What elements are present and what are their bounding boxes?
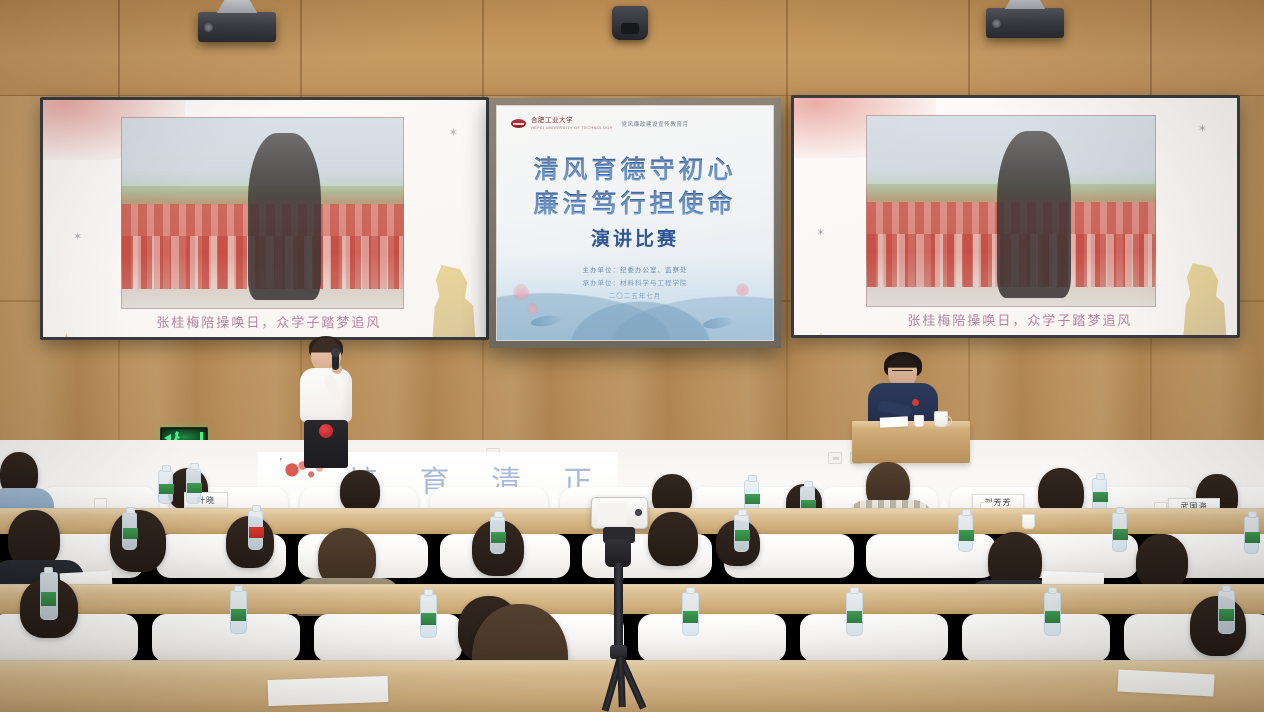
slide-right: ✶ ✶ ★ ★ ★ ★ 张桂梅陪操唤日，众学子踏梦追风 [794,98,1237,335]
paper-cup-icon [1022,514,1035,529]
camera-lens-icon [635,509,642,516]
bottle-label [683,611,698,624]
bottle-cap [252,505,261,512]
score-sheet [880,416,908,427]
slide-caption: 张桂梅陪操唤日，众学子踏梦追风 [821,310,1220,329]
judge-station [846,355,976,465]
bird-icon: ✶ [73,230,82,243]
bottle-cap [190,463,199,470]
water-bottle [248,510,263,550]
display-screen-right: ✶ ✶ ★ ★ ★ ★ 张桂梅陪操唤日，众学子踏梦追风 [791,95,1240,338]
bottle-label [491,532,506,543]
tripod-center-column [614,563,623,649]
star-icon: ★ [812,328,830,338]
bottle-cap [1096,473,1105,480]
slide-caption: 张桂梅陪操唤日，众学子踏梦追风 [70,312,469,331]
bottle-label [1219,609,1234,622]
bottle-cap [1248,511,1257,518]
water-bottle [734,514,749,552]
lecture-hall-scene: ✶ ✶ ★ ★ ★ ★ 张桂梅陪操唤日，众学子踏梦追风 合肥 [0,0,1264,712]
wall-seam [786,0,788,470]
smartphone-camera[interactable] [591,497,648,529]
bottle-label [1113,529,1128,540]
star-icon: ★ [866,336,872,338]
display-screen-center: 合肥工业大学 HEFEI UNIVERSITY OF TECHNOLOGY 党风… [489,98,781,348]
display-screen-left: ✶ ✶ ★ ★ ★ ★ 张桂梅陪操唤日，众学子踏梦追风 [40,97,489,340]
bottle-cap [44,567,53,574]
chair [800,614,948,662]
ceiling-camera-icon [612,6,648,40]
audience-head [1136,534,1188,590]
bird-icon: ✶ [1198,122,1207,135]
mountain-decoration [497,254,773,340]
lotus-icon [527,303,538,314]
slide-subtitle: 演讲比赛 [497,224,773,251]
star-icon: ★ [833,337,845,338]
bottle-cap [1222,585,1231,592]
university-logo-icon [511,119,526,128]
bottle-cap [850,587,859,594]
bottle-cap [804,481,813,488]
water-bottle [490,516,505,554]
bottle-label [159,484,174,494]
campaign-banner-text: 党风廉政建设宣传教育月 [622,120,689,128]
bottle-cap [1048,587,1057,594]
water-bottle [682,592,699,636]
photo-figure [248,133,321,300]
lotus-icon [513,284,529,300]
bottle-label [41,592,56,606]
bottle-cap [424,589,433,596]
bottle-label [421,613,436,626]
bottle-label [187,483,202,493]
water-bottle [1092,478,1107,512]
bird-icon: ✶ [816,226,825,239]
bottle-label [123,528,138,539]
slide-header: 合肥工业大学 HEFEI UNIVERSITY OF TECHNOLOGY 党风… [511,118,689,130]
projector-icon [198,12,276,42]
bottle-label [1045,611,1060,624]
bottle-cap [126,507,135,514]
slide-left: ✶ ✶ ★ ★ ★ ★ 张桂梅陪操唤日，众学子踏梦追风 [43,100,486,337]
projector-lens-icon [204,23,213,32]
water-bottle [158,470,173,504]
paper-sheet [268,676,389,706]
bottle-label [847,611,862,624]
wall-socket-icon [828,452,842,464]
water-bottle [186,468,201,504]
water-bottle [420,594,437,638]
slide-center: 合肥工业大学 HEFEI UNIVERSITY OF TECHNOLOGY 党风… [496,105,774,341]
university-name: 合肥工业大学 [531,118,613,125]
projector-icon [986,8,1064,38]
star-icon: ★ [79,339,91,340]
water-bottle [230,590,247,634]
water-bottle [846,592,863,636]
star-icon: ★ [113,337,119,340]
slide-title-line2: 廉洁笃行担使命 [497,184,773,220]
water-bottle [122,512,137,550]
bottle-cap [962,509,971,516]
bottle-label [231,609,246,622]
water-bottle [1244,516,1259,554]
bottle-cap [738,509,747,516]
bottle-cap [162,465,171,472]
bird-icon: ✶ [449,126,458,139]
bottle-cap [494,511,503,518]
judge-desk-top [852,421,970,429]
glasses-icon [892,370,913,375]
chair [314,614,462,662]
water-bottle [1044,592,1061,636]
bottle-cap [234,585,243,592]
water-bottle [40,572,58,620]
bottle-label [249,527,264,538]
water-bottle [958,514,973,552]
bottle-cap [686,587,695,594]
water-bottle [1112,512,1127,552]
judge-desk [852,421,970,463]
slide-title-line1: 清风育德守初心 [497,150,773,186]
slide-photo [866,115,1156,307]
microphone-icon [332,352,339,370]
slide-photo [121,117,404,309]
bottle-label [1093,492,1108,502]
audience-head [340,470,380,512]
chair [962,614,1110,662]
chair [866,534,996,578]
university-name-en: HEFEI UNIVERSITY OF TECHNOLOGY [531,125,613,130]
bottle-label [959,530,974,541]
photo-figure [997,131,1072,298]
bottle-cap [748,475,757,482]
lotus-icon [736,283,749,296]
presenter-speaker [292,338,362,466]
audience-head [110,510,166,572]
projector-lens-icon [992,19,1001,28]
bottle-cap [1116,507,1125,514]
bottle-label [735,530,750,541]
contestant-number-badge [319,424,333,438]
mug-icon [934,411,948,427]
water-bottle [1218,590,1235,634]
chair [152,614,300,662]
bottle-label [745,494,760,504]
judge-badge [912,399,919,406]
phone-screen [597,503,627,525]
paper-cup-icon [914,415,924,427]
bottle-label [1245,532,1260,543]
recording-tripod [575,497,665,712]
